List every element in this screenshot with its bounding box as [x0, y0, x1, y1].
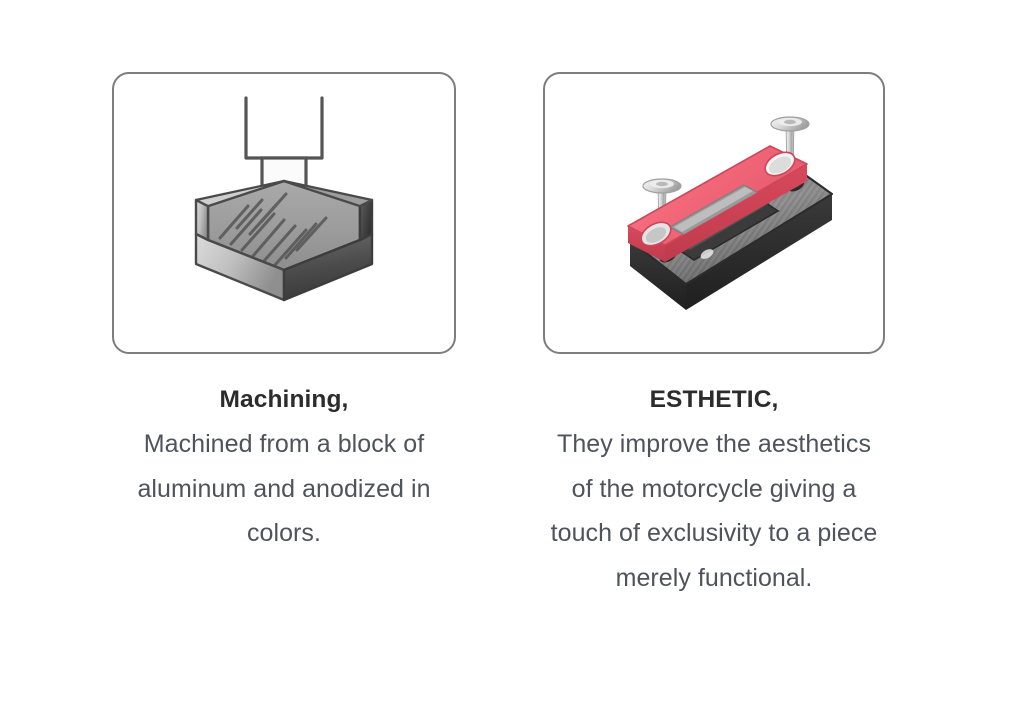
features-row: Machining, Machined from a block of alum… [0, 0, 1024, 707]
features-page: Machining, Machined from a block of alum… [0, 0, 1024, 707]
feature-esthetic-text: ESTHETIC, They improve the aesthetics of… [543, 384, 885, 600]
feature-machining-text: Machining, Machined from a block of alum… [112, 384, 456, 556]
spindle-holder [246, 98, 322, 158]
feature-machining-title: Machining, [112, 384, 456, 415]
feature-esthetic: ESTHETIC, They improve the aesthetics of… [543, 72, 885, 600]
feature-esthetic-icon-card [543, 72, 885, 354]
feature-esthetic-title: ESTHETIC, [543, 384, 885, 415]
anodized-plate-with-screws-icon [564, 88, 864, 338]
feature-machining-icon-card [112, 72, 456, 354]
workpiece-block [196, 181, 372, 300]
cnc-milling-machine-icon [134, 88, 434, 338]
feature-machining-body: Machined from a block of aluminum and an… [112, 422, 456, 556]
feature-esthetic-body: They improve the aesthetics of the motor… [543, 422, 885, 600]
feature-machining: Machining, Machined from a block of alum… [112, 72, 456, 556]
